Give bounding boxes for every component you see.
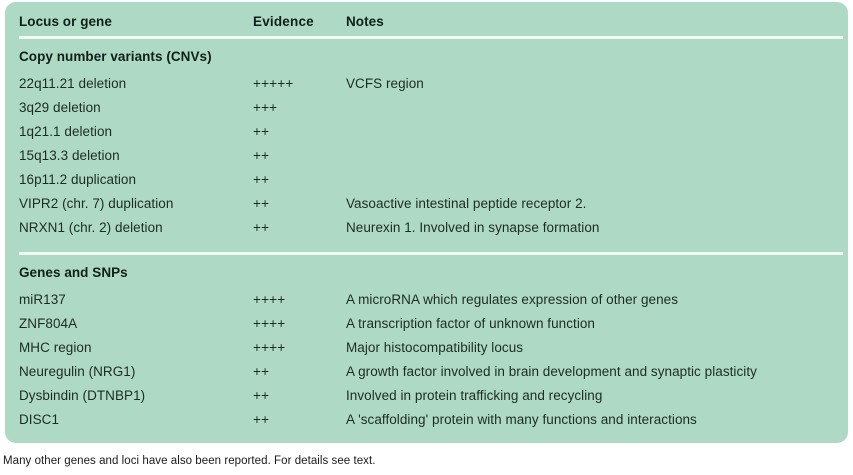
table-row: Neuregulin (NRG1) ++ A growth factor inv…	[5, 360, 848, 383]
cell-evidence: ++	[253, 196, 346, 211]
cell-evidence: ++	[253, 172, 346, 187]
cell-notes: Neurexin 1. Involved in synapse formatio…	[346, 220, 848, 235]
table-row: 15q13.3 deletion ++	[5, 144, 848, 167]
cell-evidence: +++++	[253, 76, 346, 91]
section-header-genes-snps: Genes and SNPs	[5, 261, 848, 284]
table-row: miR137 ++++ A microRNA which regulates e…	[5, 288, 848, 311]
cell-locus: ZNF804A	[5, 316, 253, 331]
table-row: NRXN1 (chr. 2) deletion ++ Neurexin 1. I…	[5, 216, 848, 239]
cell-locus: MHC region	[5, 340, 253, 355]
section-title: Genes and SNPs	[5, 265, 253, 280]
table-row: 16p11.2 duplication ++	[5, 168, 848, 191]
column-header-locus: Locus or gene	[5, 14, 253, 29]
table-panel: Locus or gene Evidence Notes Copy number…	[5, 2, 848, 443]
cell-evidence: ++	[253, 124, 346, 139]
cell-locus: 15q13.3 deletion	[5, 148, 253, 163]
cell-locus: 16p11.2 duplication	[5, 172, 253, 187]
section-divider	[19, 252, 843, 255]
cell-notes: A growth factor involved in brain develo…	[346, 364, 848, 379]
column-header-notes: Notes	[346, 14, 848, 29]
cell-locus: 22q11.21 deletion	[5, 76, 253, 91]
table-row: MHC region ++++ Major histocompatibility…	[5, 336, 848, 359]
cell-locus: 1q21.1 deletion	[5, 124, 253, 139]
cell-notes: A microRNA which regulates expression of…	[346, 292, 848, 307]
cell-notes: A 'scaffolding' protein with many functi…	[346, 412, 848, 427]
table-header-row: Locus or gene Evidence Notes	[5, 10, 848, 33]
cell-notes: A transcription factor of unknown functi…	[346, 316, 848, 331]
table-row: 3q29 deletion +++	[5, 96, 848, 119]
cell-evidence: ++++	[253, 316, 346, 331]
cell-locus: miR137	[5, 292, 253, 307]
cell-evidence: ++++	[253, 292, 346, 307]
table-row: ZNF804A ++++ A transcription factor of u…	[5, 312, 848, 335]
section-title: Copy number variants (CNVs)	[5, 49, 253, 64]
cell-evidence: ++	[253, 364, 346, 379]
cell-locus: Dysbindin (DTNBP1)	[5, 388, 253, 403]
section-header-cnvs: Copy number variants (CNVs)	[5, 45, 848, 68]
table-row: 22q11.21 deletion +++++ VCFS region	[5, 72, 848, 95]
cell-evidence: ++	[253, 388, 346, 403]
table-row: DISC1 ++ A 'scaffolding' protein with ma…	[5, 408, 848, 431]
table-caption: Many other genes and loci have also been…	[3, 455, 375, 467]
column-header-evidence: Evidence	[253, 14, 346, 29]
cell-evidence: ++	[253, 220, 346, 235]
table-row: VIPR2 (chr. 7) duplication ++ Vasoactive…	[5, 192, 848, 215]
cell-notes: Involved in protein trafficking and recy…	[346, 388, 848, 403]
cell-evidence: ++	[253, 148, 346, 163]
cell-locus: DISC1	[5, 412, 253, 427]
cell-notes: VCFS region	[346, 76, 848, 91]
table-figure: Locus or gene Evidence Notes Copy number…	[0, 0, 853, 475]
cell-locus: VIPR2 (chr. 7) duplication	[5, 196, 253, 211]
cell-locus: 3q29 deletion	[5, 100, 253, 115]
cell-locus: Neuregulin (NRG1)	[5, 364, 253, 379]
header-divider	[19, 36, 843, 39]
cell-evidence: +++	[253, 100, 346, 115]
table-row: 1q21.1 deletion ++	[5, 120, 848, 143]
cell-notes: Major histocompatibility locus	[346, 340, 848, 355]
cell-evidence: ++++	[253, 340, 346, 355]
cell-notes: Vasoactive intestinal peptide receptor 2…	[346, 196, 848, 211]
cell-evidence: ++	[253, 412, 346, 427]
cell-locus: NRXN1 (chr. 2) deletion	[5, 220, 253, 235]
table-row: Dysbindin (DTNBP1) ++ Involved in protei…	[5, 384, 848, 407]
